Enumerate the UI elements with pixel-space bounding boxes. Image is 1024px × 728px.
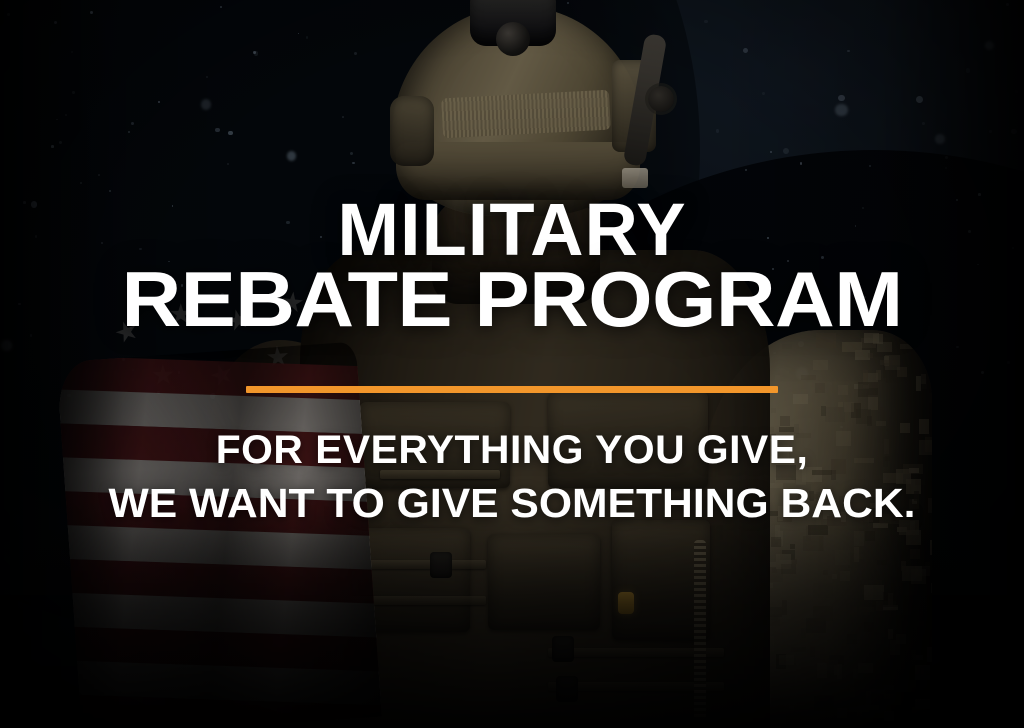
- military-rebate-banner: MILITARY REBATE PROGRAM FOR EVERYTHING Y…: [0, 0, 1024, 728]
- camo-pixel: [821, 406, 826, 416]
- headline-line-1: MILITARY: [0, 196, 1024, 264]
- camo-pixel: [858, 382, 878, 397]
- camo-pixel: [817, 663, 827, 678]
- camo-pixel: [930, 707, 932, 717]
- camo-pixel: [825, 407, 845, 422]
- camo-pixel: [817, 695, 832, 705]
- vest-buckle-2: [556, 676, 578, 702]
- page-title: MILITARY REBATE PROGRAM: [0, 196, 1024, 336]
- camo-pixel: [884, 694, 894, 699]
- helmet-earcup: [390, 96, 434, 166]
- camo-pixel: [859, 528, 869, 533]
- camo-pixel: [803, 536, 823, 551]
- camo-pixel: [779, 655, 794, 665]
- camo-pixel: [915, 699, 930, 709]
- headline-wrapper: MILITARY REBATE PROGRAM: [0, 196, 1024, 336]
- camo-pixel: [868, 395, 878, 410]
- camo-pixel: [852, 607, 857, 617]
- camo-pixel: [921, 374, 926, 384]
- camo-pixel: [791, 647, 806, 652]
- camo-pixel: [823, 570, 828, 575]
- camo-pixel: [780, 416, 790, 426]
- camo-pixel: [884, 711, 894, 721]
- camo-pixel: [930, 560, 932, 570]
- camo-pixel: [867, 619, 872, 629]
- camo-pixel: [876, 421, 886, 426]
- camo-pixel: [888, 629, 893, 639]
- helmet-ir-tag: [622, 168, 648, 188]
- camo-pixel: [910, 549, 920, 559]
- camo-pixel: [832, 574, 837, 579]
- nvg-knob: [496, 22, 530, 56]
- camo-pixel: [928, 393, 932, 403]
- subheadline-line-1: FOR EVERYTHING YOU GIVE,: [0, 428, 1024, 473]
- accent-divider: [246, 386, 778, 393]
- camo-pixel: [901, 561, 906, 571]
- camo-pixel: [856, 409, 871, 424]
- vest-buckle-3: [430, 552, 452, 578]
- camo-pixel: [815, 383, 825, 393]
- camo-pixel: [782, 344, 792, 349]
- camo-pixel: [790, 544, 795, 549]
- camo-pixel: [840, 571, 850, 581]
- camo-pixel: [820, 647, 825, 662]
- camo-pixel: [771, 408, 776, 413]
- vest-pouch-center: [488, 534, 600, 630]
- camo-pixel: [930, 540, 932, 555]
- camo-pixel: [900, 344, 920, 349]
- flag-shading: [56, 342, 381, 728]
- camo-pixel: [904, 621, 924, 626]
- camo-pixel: [893, 720, 903, 728]
- camo-pixel: [931, 637, 932, 647]
- camo-pixel: [782, 600, 787, 615]
- camo-pixel: [886, 378, 901, 383]
- camo-pixel: [813, 583, 833, 598]
- camo-pixel: [780, 672, 795, 687]
- camo-pixel: [835, 550, 850, 565]
- camo-pixel: [912, 707, 927, 722]
- camo-pixel: [784, 704, 804, 709]
- camo-pixel: [854, 547, 859, 562]
- camo-pixel: [779, 368, 789, 373]
- camo-pixel: [876, 370, 881, 380]
- brass-accent: [618, 592, 634, 614]
- subheadline-wrapper: FOR EVERYTHING YOU GIVE, WE WANT TO GIVE…: [0, 428, 1024, 527]
- helmet-rail-dial: [648, 86, 674, 112]
- camo-pixel: [813, 360, 828, 370]
- camo-pixel: [810, 647, 815, 657]
- camo-pixel: [877, 648, 882, 658]
- camo-pixel: [786, 713, 801, 723]
- camo-pixel: [880, 407, 895, 422]
- camo-pixel: [880, 360, 900, 365]
- camo-pixel: [837, 708, 847, 718]
- camo-pixel: [850, 687, 855, 697]
- camo-pixel: [931, 583, 932, 593]
- camo-pixel: [911, 650, 916, 665]
- camo-pixel: [887, 571, 897, 576]
- camo-pixel: [855, 682, 860, 697]
- camo-pixel: [890, 640, 900, 655]
- headline-line-2: REBATE PROGRAM: [0, 264, 1024, 336]
- subheadline: FOR EVERYTHING YOU GIVE, WE WANT TO GIVE…: [0, 428, 1024, 527]
- camo-pixel: [801, 667, 816, 677]
- camo-pixel: [847, 634, 857, 644]
- camo-pixel: [801, 628, 806, 638]
- subheadline-line-2: WE WANT TO GIVE SOMETHING BACK.: [0, 481, 1024, 527]
- camo-pixel: [771, 537, 781, 547]
- camo-pixel: [877, 560, 887, 565]
- camo-pixel: [859, 665, 869, 670]
- camo-pixel: [883, 592, 898, 607]
- camo-pixel: [844, 402, 854, 412]
- camo-pixel: [773, 641, 783, 646]
- vest-buckle-1: [552, 636, 574, 662]
- camo-pixel: [775, 375, 780, 385]
- camo-pixel: [833, 705, 838, 715]
- camo-pixel: [877, 342, 892, 352]
- camo-pixel: [838, 385, 848, 395]
- camo-pixel: [927, 647, 932, 662]
- camo-pixel: [813, 606, 833, 621]
- camo-pixel: [793, 394, 808, 404]
- camo-pixel: [838, 402, 843, 407]
- vest-zipper: [694, 540, 706, 720]
- camo-pixel: [853, 669, 858, 679]
- camo-pixel: [801, 375, 816, 380]
- camo-pixel: [857, 706, 862, 716]
- camo-pixel: [781, 564, 796, 574]
- american-flag-drape: [56, 342, 381, 728]
- camo-pixel: [854, 531, 864, 546]
- camo-pixel: [906, 530, 921, 545]
- camo-pixel: [842, 342, 862, 352]
- camo-pixel: [915, 566, 930, 576]
- camo-pixel: [866, 691, 871, 706]
- camo-pixel: [884, 685, 894, 690]
- camo-pixel: [868, 353, 873, 358]
- camo-pixel: [915, 665, 930, 680]
